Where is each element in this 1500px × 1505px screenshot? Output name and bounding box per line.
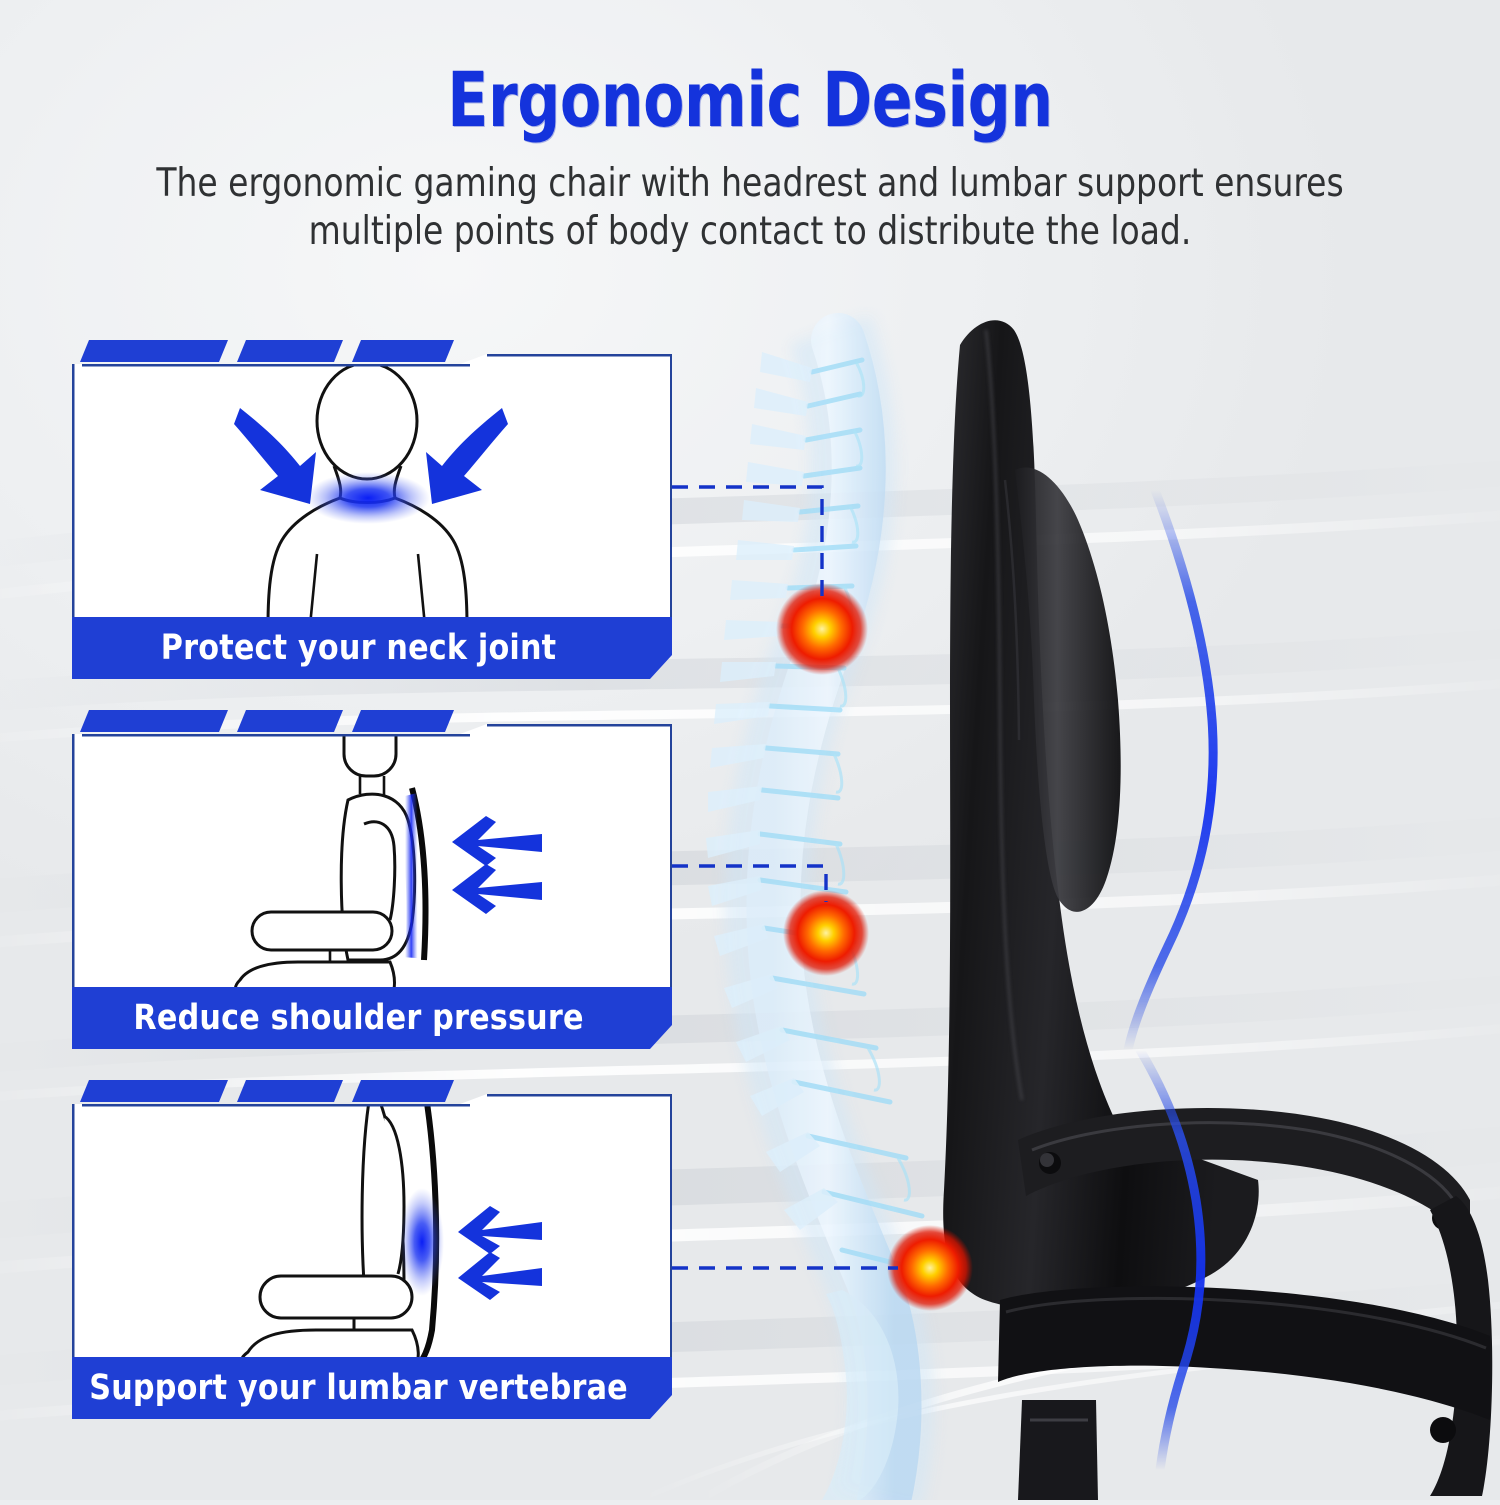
feature-card-neck[interactable]: Protect your neck joint — [72, 340, 672, 687]
card-label-bar: Protect your neck joint — [72, 617, 672, 679]
card-body — [72, 354, 672, 626]
card-illustration-neck — [72, 354, 672, 626]
card-tabs — [80, 340, 430, 362]
card-label-bar: Reduce shoulder pressure — [72, 987, 672, 1049]
card-body — [72, 1094, 672, 1366]
backrest-contour — [416, 1094, 436, 1366]
pressure-arrows — [452, 816, 542, 914]
card-tabs — [80, 1080, 430, 1102]
chair-side-icon — [236, 724, 415, 996]
card-tab-3 — [352, 340, 454, 362]
card-tab-1 — [80, 710, 228, 732]
pressure-arrow-right — [426, 408, 508, 504]
backrest-contour — [412, 788, 426, 960]
card-label-bar: Support your lumbar vertebrae — [72, 1357, 672, 1419]
header: Ergonomic Design The ergonomic gaming ch… — [0, 0, 1500, 255]
pressure-arrow-left — [234, 408, 316, 504]
shoulder-glow — [405, 796, 418, 958]
chair-side-zoom-icon — [242, 1094, 418, 1366]
feature-card-shoulder[interactable]: Reduce shoulder pressure — [72, 710, 672, 1057]
feature-cards: Protect your neck joint — [72, 340, 672, 1450]
card-tab-2 — [237, 340, 343, 362]
page-title: Ergonomic Design — [90, 62, 1410, 138]
card-body — [72, 724, 672, 996]
card-tab-3 — [352, 710, 454, 732]
pressure-arrows — [458, 1206, 542, 1300]
person-front-icon — [268, 363, 467, 626]
neck-glow — [306, 472, 430, 524]
card-tab-2 — [237, 1080, 343, 1102]
card-illustration-lumbar — [72, 1094, 672, 1366]
card-tab-1 — [80, 340, 228, 362]
card-label-text: Support your lumbar vertebrae — [84, 1368, 660, 1408]
card-tab-2 — [237, 710, 343, 732]
page-subtitle: The ergonomic gaming chair with headrest… — [92, 160, 1408, 255]
feature-card-lumbar[interactable]: Support your lumbar vertebrae — [72, 1080, 672, 1427]
card-illustration-shoulder — [72, 724, 672, 996]
card-tabs — [80, 710, 430, 732]
card-label-text: Reduce shoulder pressure — [84, 998, 660, 1038]
card-tab-3 — [352, 1080, 454, 1102]
lumbar-glow — [400, 1188, 444, 1296]
card-tab-1 — [80, 1080, 228, 1102]
card-label-text: Protect your neck joint — [84, 628, 660, 668]
